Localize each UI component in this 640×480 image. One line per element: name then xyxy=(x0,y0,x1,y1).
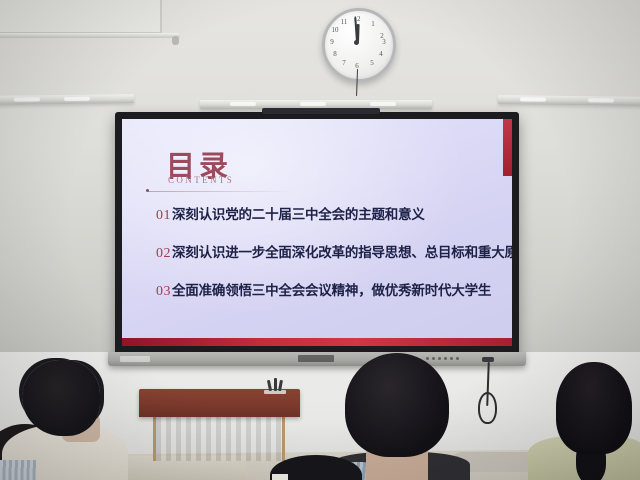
display-sensor-strip xyxy=(298,355,334,362)
clock-numeral: 10 xyxy=(330,26,340,34)
wooden-lectern xyxy=(139,389,300,461)
ceiling-light-fixture-left xyxy=(0,94,134,105)
toc-item-number: 01 xyxy=(156,208,171,224)
clock-center-pin xyxy=(354,40,359,45)
analog-wall-clock: 12 1 2 3 4 5 6 7 8 9 10 11 xyxy=(322,8,396,82)
hanging-cord-loop[interactable] xyxy=(478,392,497,424)
presentation-slide: 目录 CONTENTS 01 深刻认识党的二十届三中全会的主题和意义 02 深刻… xyxy=(122,119,512,346)
list-item: 03 全面准确领悟三中全会会议精神，做优秀新时代大学生 xyxy=(156,279,494,300)
title-divider-rule xyxy=(148,191,294,192)
toc-item-text: 深刻认识进一步全面深化改革的指导思想、总目标和重大原则 xyxy=(172,241,512,261)
clock-numeral: 9 xyxy=(327,38,337,46)
table-of-contents-list: 01 深刻认识党的二十届三中全会的主题和意义 02 深刻认识进一步全面深化改革的… xyxy=(156,203,494,317)
clock-numeral: 7 xyxy=(339,59,349,67)
display-bottom-bezel xyxy=(108,352,526,366)
audience-head xyxy=(22,360,100,436)
whiteboard-frame xyxy=(0,0,162,34)
toc-item-number: 02 xyxy=(156,246,171,262)
display-control-buttons[interactable] xyxy=(426,357,459,360)
title-divider-dot xyxy=(146,189,149,192)
clock-numeral: 4 xyxy=(376,50,386,58)
display-brand-label xyxy=(120,356,150,362)
display-button[interactable] xyxy=(450,357,453,360)
display-button[interactable] xyxy=(432,357,435,360)
display-button[interactable] xyxy=(456,357,459,360)
display-button[interactable] xyxy=(426,357,429,360)
audience-head xyxy=(556,362,632,454)
clock-numeral: 8 xyxy=(330,50,340,58)
clock-numeral: 3 xyxy=(379,38,389,46)
paper-sheet xyxy=(272,474,288,480)
display-button[interactable] xyxy=(438,357,441,360)
toc-item-text: 全面准确领悟三中全会会议精神，做优秀新时代大学生 xyxy=(172,279,491,299)
projection-screen-rail xyxy=(0,33,180,38)
classroom-photo-scene: 12 1 2 3 4 5 6 7 8 9 10 11 目录 CONTENTS 0… xyxy=(0,0,640,480)
ceiling-light-fixture-right xyxy=(498,95,640,106)
rail-knob xyxy=(172,36,179,45)
slide-accent-bar-right xyxy=(503,119,512,176)
lectern-edge-right xyxy=(282,416,285,461)
list-item: 01 深刻认识党的二十届三中全会的主题和意义 xyxy=(156,203,494,224)
audience-head xyxy=(345,353,449,457)
toc-item-text: 深刻认识党的二十届三中全会的主题和意义 xyxy=(172,203,425,223)
slide-subtitle: CONTENTS xyxy=(168,175,234,185)
microphone-icon xyxy=(267,379,283,391)
classroom-display-panel[interactable]: 目录 CONTENTS 01 深刻认识党的二十届三中全会的主题和意义 02 深刻… xyxy=(115,112,519,355)
display-button[interactable] xyxy=(444,357,447,360)
lectern-body xyxy=(156,416,282,461)
list-item: 02 深刻认识进一步全面深化改革的指导思想、总目标和重大原则 xyxy=(156,241,494,262)
toc-item-number: 03 xyxy=(156,284,171,300)
audience-clothing xyxy=(0,460,36,480)
clock-numeral: 11 xyxy=(339,18,349,26)
clock-numeral: 1 xyxy=(368,20,378,28)
slide-accent-bar-bottom xyxy=(122,338,512,346)
display-top-mount xyxy=(262,108,380,114)
clock-numeral: 5 xyxy=(367,59,377,67)
